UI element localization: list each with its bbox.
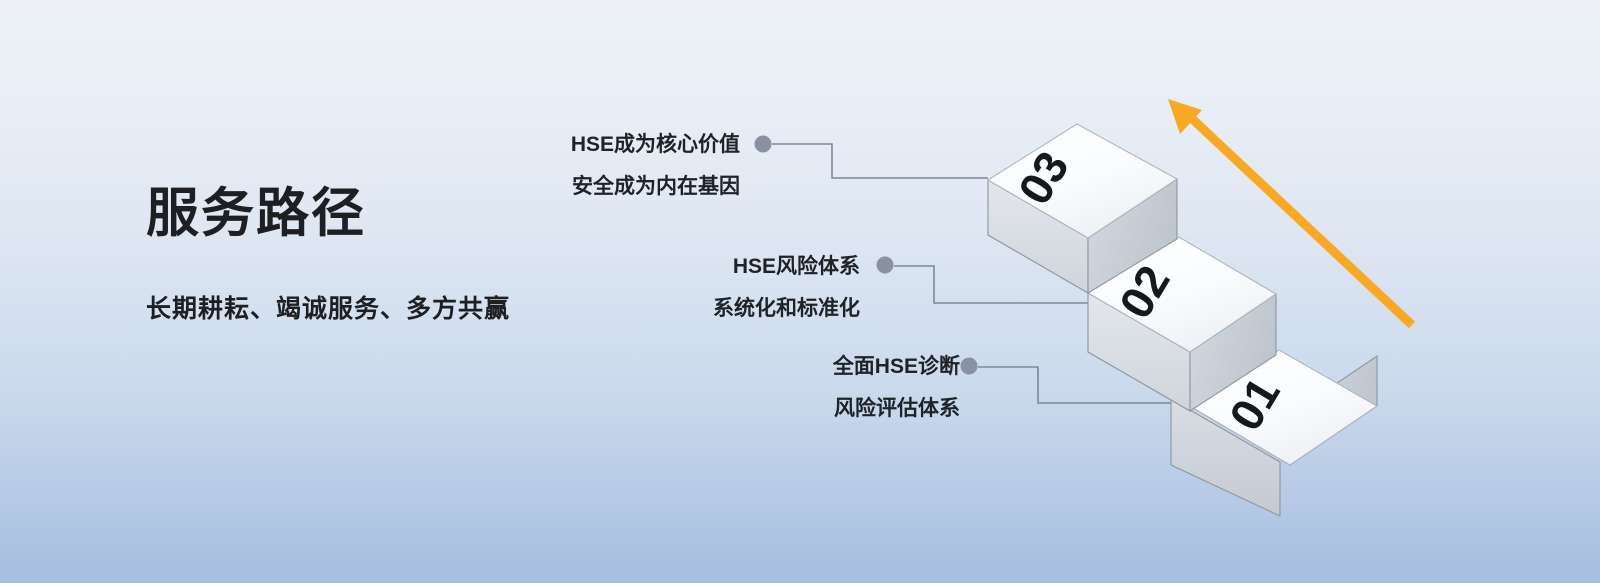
connector-dot-step-01 [961,358,978,375]
connector-dot-step-02 [877,257,894,274]
connector-line-step-03 [772,144,988,178]
connector-dots [755,136,978,375]
isometric-staircase-diagram: 01 02 03 [0,0,1600,583]
slide-canvas: 服务路径 长期耕耘、竭诚服务、多方共赢 HSE成为核心价值 安全成为内在基因 H… [0,0,1600,583]
connector-dot-step-03 [755,136,772,153]
